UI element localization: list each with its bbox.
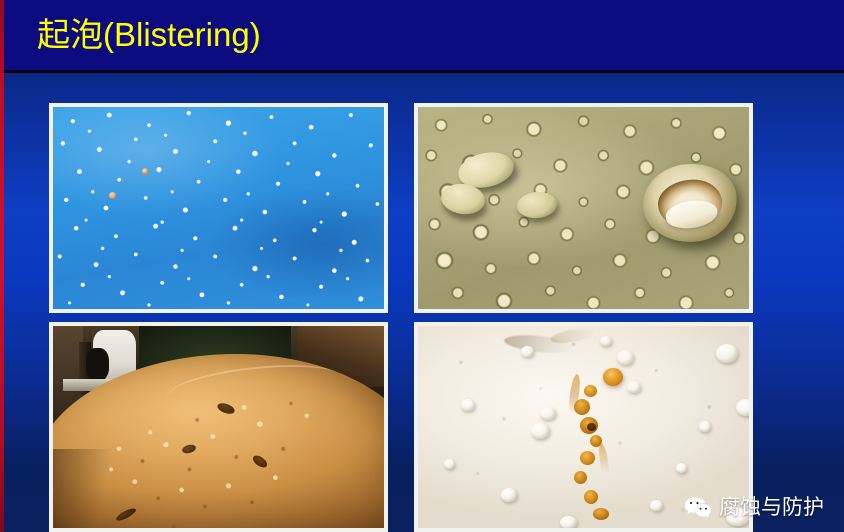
blister: [650, 500, 663, 511]
blue-blistered-coating-image: [53, 107, 384, 309]
blister: [716, 344, 738, 363]
photo-top-right[interactable]: [414, 103, 753, 313]
khaki-blistered-coating-image: [418, 107, 749, 309]
blister: [617, 350, 634, 365]
presentation-slide: 起泡(Blistering): [0, 0, 844, 532]
coated-vessel-surface: [53, 354, 384, 528]
photo-bottom-right[interactable]: [414, 322, 753, 532]
header-divider-rule: [0, 70, 844, 73]
rust-stain-dark-core: [587, 423, 596, 431]
blister-layer-secondary: [53, 107, 384, 309]
rust-stain: [584, 490, 598, 504]
photo-grid: [49, 103, 755, 523]
blister: [726, 508, 749, 526]
blister: [461, 399, 475, 411]
photo-bottom-left[interactable]: [49, 322, 388, 532]
white-coating-rust-image: [418, 326, 749, 528]
vessel-shadow: [53, 449, 119, 528]
left-accent-strip: [0, 0, 4, 532]
vessel-blistered-coating-image: [53, 326, 384, 528]
rust-stain: [584, 385, 597, 397]
rust-stain: [574, 471, 587, 484]
blister: [560, 516, 577, 528]
blister: [501, 488, 517, 502]
blister: [736, 399, 749, 416]
blister: [521, 346, 534, 357]
page-title: 起泡(Blistering): [37, 13, 261, 57]
blister: [627, 381, 641, 393]
blister: [531, 423, 550, 439]
photo-top-left[interactable]: [49, 103, 388, 313]
